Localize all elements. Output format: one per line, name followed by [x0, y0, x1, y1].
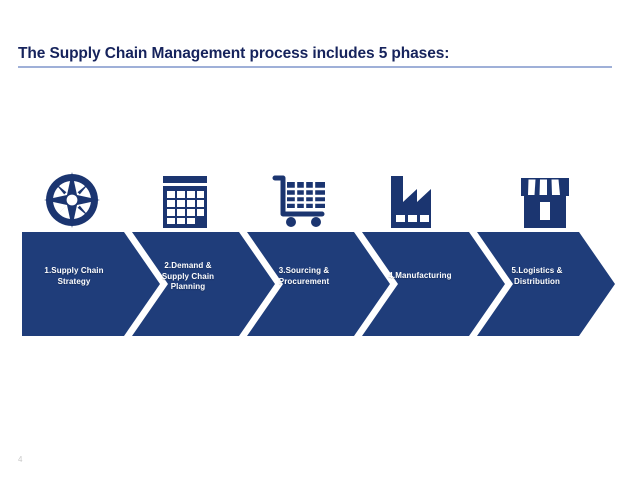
- chevron-label-1-line2: Strategy: [22, 277, 126, 288]
- chevron-label-5-line2: Distribution: [487, 277, 587, 288]
- title-underline-rule: [18, 66, 612, 68]
- chevron-label-3-line2: Procurement: [254, 277, 354, 288]
- phase-icon-4: [374, 166, 454, 228]
- chevron-label-4: 4.Manufacturing: [368, 271, 472, 282]
- process-chevron-band: 1.Supply Chain Strategy 2.Demand & Suppl…: [0, 228, 636, 340]
- chevron-label-2-line3: Planning: [138, 282, 238, 293]
- chevron-label-2: 2.Demand & Supply Chain Planning: [138, 261, 238, 293]
- chevron-label-2-line1: 2.Demand &: [138, 261, 238, 272]
- chevron-label-1: 1.Supply Chain Strategy: [22, 266, 126, 287]
- chevron-label-3-line1: 3.Sourcing &: [254, 266, 354, 277]
- shopping-cart-icon: [272, 174, 328, 228]
- chevron-label-5: 5.Logistics & Distribution: [487, 266, 587, 287]
- chevron-label-3: 3.Sourcing & Procurement: [254, 266, 354, 287]
- chevron-label-5-line1: 5.Logistics &: [487, 266, 587, 277]
- storefront-icon: [519, 176, 571, 228]
- phase-icon-3: [260, 166, 340, 228]
- slide-canvas: The Supply Chain Management process incl…: [0, 0, 636, 480]
- calendar-icon: [160, 176, 210, 228]
- phase-icon-2: [145, 166, 225, 228]
- chevron-label-2-line2: Supply Chain: [138, 272, 238, 283]
- factory-icon: [387, 176, 441, 228]
- phase-icon-5: [505, 166, 585, 228]
- phase-icon-1: [32, 166, 112, 228]
- page-title: The Supply Chain Management process incl…: [18, 44, 614, 64]
- chevron-label-1-line1: 1.Supply Chain: [22, 266, 126, 277]
- phase-icon-row: [0, 166, 636, 228]
- chevron-label-4-line1: 4.Manufacturing: [368, 271, 472, 282]
- page-number: 4: [18, 455, 22, 464]
- title-block: The Supply Chain Management process incl…: [18, 44, 614, 64]
- compass-icon: [44, 172, 100, 228]
